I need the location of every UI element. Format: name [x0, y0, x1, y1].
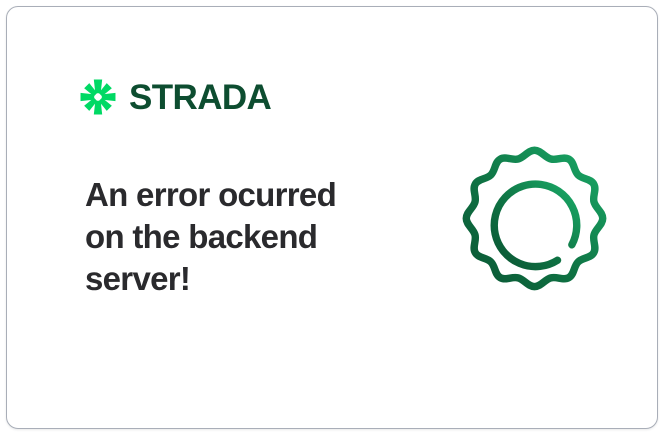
- error-message-line-1: An error ocurred: [85, 174, 385, 216]
- strada-asterisk-icon: [79, 78, 117, 116]
- brand-lockup: STRADA: [79, 75, 271, 119]
- gear-spinner-icon: [452, 142, 617, 307]
- error-message: An error ocurred on the backend server!: [85, 174, 385, 300]
- error-message-line-2: on the backend: [85, 216, 385, 258]
- error-message-line-3: server!: [85, 258, 385, 300]
- error-card: STRADA An error ocurred on the backend s…: [6, 6, 658, 429]
- screen-root: STRADA An error ocurred on the backend s…: [0, 0, 666, 436]
- brand-wordmark: STRADA: [129, 80, 271, 115]
